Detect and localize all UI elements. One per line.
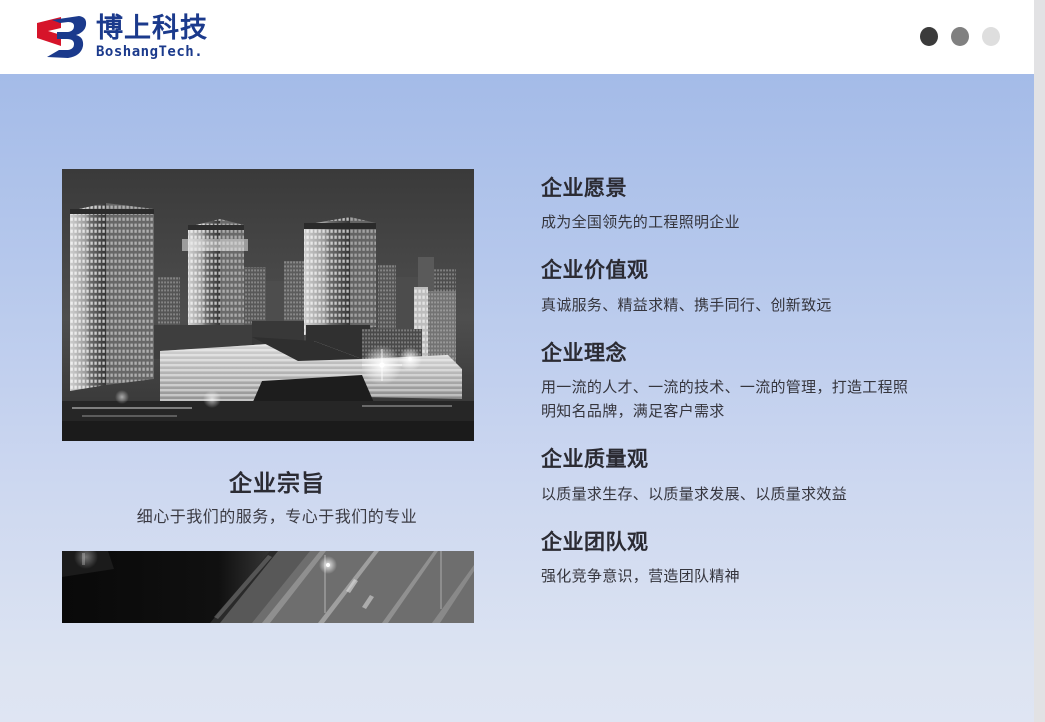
dot-medium-icon[interactable] xyxy=(951,27,969,46)
entry-title: 企业价值观 xyxy=(541,256,941,285)
culture-entry-philosophy: 企业理念 用一流的人才、一流的技术、一流的管理，打造工程照明知名品牌，满足客户需… xyxy=(541,339,941,423)
company-purpose-title: 企业宗旨 xyxy=(80,469,474,500)
entry-text: 成为全国领先的工程照明企业 xyxy=(541,210,913,234)
entry-text: 强化竞争意识，营造团队精神 xyxy=(541,564,913,588)
content-inner: 企业宗旨 细心于我们的服务，专心于我们的专业 xyxy=(0,74,1034,722)
left-column: 企业宗旨 细心于我们的服务，专心于我们的专业 xyxy=(62,169,474,623)
entry-title: 企业理念 xyxy=(541,339,941,368)
culture-entry-values: 企业价值观 真诚服务、精益求精、携手同行、创新致远 xyxy=(541,256,941,316)
entry-text: 用一流的人才、一流的技术、一流的管理，打造工程照明知名品牌，满足客户需求 xyxy=(541,375,913,423)
logo-wordmark: 博上科技 BoshangTech. xyxy=(96,15,208,59)
entry-title: 企业质量观 xyxy=(541,445,941,474)
company-purpose-text: 细心于我们的服务，专心于我们的专业 xyxy=(80,505,474,529)
dot-light-icon[interactable] xyxy=(982,27,1000,46)
dot-dark-icon[interactable] xyxy=(920,27,938,46)
right-column: 企业愿景 成为全国领先的工程照明企业 企业价值观 真诚服务、精益求精、携手同行、… xyxy=(541,174,941,588)
night-road-illustration xyxy=(62,551,474,623)
culture-entry-vision: 企业愿景 成为全国领先的工程照明企业 xyxy=(541,174,941,234)
site-header: 博上科技 BoshangTech. xyxy=(0,0,1034,74)
entry-title: 企业团队观 xyxy=(541,528,941,557)
culture-entry-quality: 企业质量观 以质量求生存、以质量求发展、以质量求效益 xyxy=(541,445,941,505)
site-logo[interactable]: 博上科技 BoshangTech. xyxy=(35,12,208,62)
entry-text: 真诚服务、精益求精、携手同行、创新致远 xyxy=(541,293,913,317)
culture-entry-team: 企业团队观 强化竞争意识，营造团队精神 xyxy=(541,528,941,588)
city-night-skyline-photo xyxy=(62,169,474,441)
vertical-scrollbar-track[interactable] xyxy=(1034,0,1045,722)
logo-chinese-name: 博上科技 xyxy=(96,15,208,42)
entry-title: 企业愿景 xyxy=(541,174,941,203)
header-indicator-dots xyxy=(920,27,1000,46)
city-skyline-illustration xyxy=(62,169,474,441)
entry-text: 以质量求生存、以质量求发展、以质量求效益 xyxy=(541,482,913,506)
logo-english-name: BoshangTech. xyxy=(96,45,208,59)
night-road-photo xyxy=(62,551,474,623)
company-purpose-block: 企业宗旨 细心于我们的服务，专心于我们的专业 xyxy=(62,469,474,529)
content-area: 企业宗旨 细心于我们的服务，专心于我们的专业 xyxy=(0,74,1034,722)
page-root: 博上科技 BoshangTech. xyxy=(0,0,1045,722)
boshang-b-mark-icon xyxy=(35,14,87,60)
